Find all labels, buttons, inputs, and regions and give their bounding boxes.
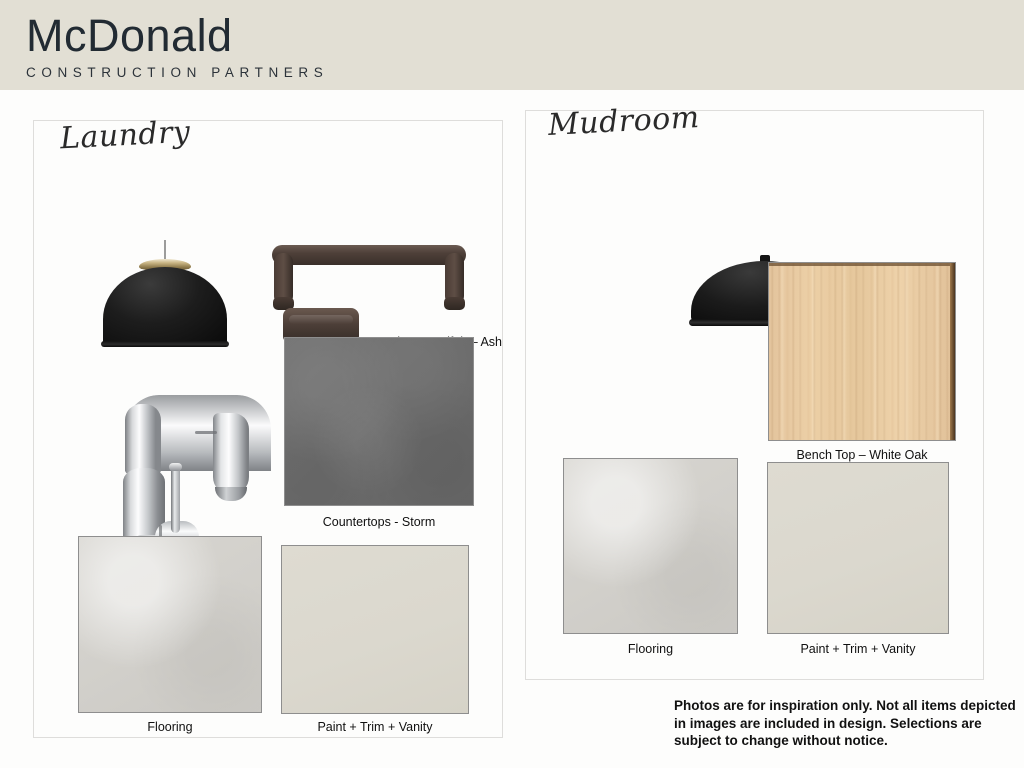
faucet-neck (125, 404, 161, 474)
swatch-flooring-mudroom[interactable] (563, 458, 738, 634)
brand-tagline: CONSTRUCTION PARTNERS (26, 65, 328, 80)
swatch-fill (564, 459, 737, 633)
faucet-sprayer-seam (195, 431, 217, 434)
logo: McDonald CONSTRUCTION PARTNERS (26, 10, 328, 80)
faucet-lever-handle (171, 467, 180, 533)
faucet-spout-tip (215, 487, 247, 501)
oak-top-edge (769, 263, 955, 266)
faucet-spout (213, 413, 249, 495)
swatch-fill (79, 537, 261, 712)
swatch-fill (768, 463, 948, 633)
swatch-paint-mudroom[interactable] (767, 462, 949, 634)
caption-flooring-mudroom: Flooring (563, 642, 738, 657)
design-board: Hardware: Telfair – Ash Gray Countertops… (0, 90, 1024, 768)
pull-foot-right (444, 297, 465, 310)
disclaimer-text: Photos are for inspiration only. Not all… (674, 697, 1024, 750)
faucet-lever-cap (169, 463, 182, 471)
pull-bar (272, 245, 466, 265)
swatch-flooring-laundry[interactable] (78, 536, 262, 713)
caption-countertops: Countertops - Storm (284, 515, 474, 530)
brand-header: McDonald CONSTRUCTION PARTNERS (0, 0, 1024, 91)
brand-name: McDonald (26, 10, 328, 62)
pendant-bottom-lip (101, 341, 229, 347)
swatch-fill (282, 546, 468, 713)
caption-flooring-laundry: Flooring (78, 720, 262, 735)
oak-right-edge (950, 263, 955, 440)
cabinet-pull-handle (272, 245, 466, 313)
swatch-countertops-storm[interactable] (284, 337, 474, 506)
pendant-light-laundry (100, 240, 230, 352)
swatch-bench-top-white-oak[interactable] (768, 262, 956, 441)
caption-bench-top: Bench Top – White Oak (768, 448, 956, 463)
swatch-fill (285, 338, 473, 505)
swatch-paint-laundry[interactable] (281, 545, 469, 714)
caption-paint-mudroom: Paint + Trim + Vanity (767, 642, 949, 657)
panel-title-laundry: Laundry (59, 115, 191, 157)
pendant-dome-shade (103, 267, 227, 345)
caption-paint-laundry: Paint + Trim + Vanity (281, 720, 469, 735)
